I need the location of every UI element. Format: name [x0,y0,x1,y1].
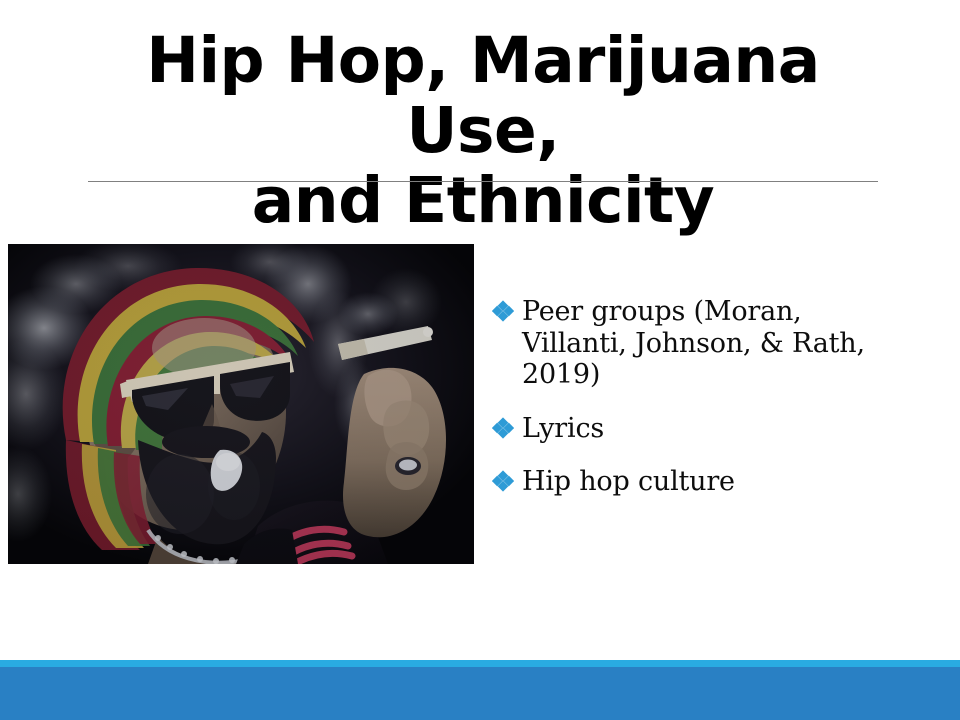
diamond-cluster-bullet-icon [492,300,516,324]
list-item: Hip hop culture [492,466,884,498]
list-item: Peer groups (Moran, Villanti, Johnson, &… [492,296,884,391]
list-item-label: Lyrics [522,413,604,444]
footer-accent-dark-bar [0,667,960,720]
title-divider [88,181,878,182]
footer-accent-light-bar [0,660,960,667]
hip-hop-artist-smoking-photo [8,244,474,564]
bullet-list: Peer groups (Moran, Villanti, Johnson, &… [492,296,884,498]
diamond-cluster-bullet-icon [492,470,516,494]
diamond-cluster-bullet-icon [492,417,516,441]
list-item-label: Peer groups (Moran, Villanti, Johnson, &… [522,296,865,390]
slide-canvas: Hip Hop, Marijuana Use, and Ethnicity [0,0,960,720]
photo-artwork [8,244,474,564]
page-title: Hip Hop, Marijuana Use, and Ethnicity [88,26,878,236]
list-item-label: Hip hop culture [522,466,735,497]
title-block: Hip Hop, Marijuana Use, and Ethnicity [88,26,878,236]
list-item: Lyrics [492,413,884,445]
